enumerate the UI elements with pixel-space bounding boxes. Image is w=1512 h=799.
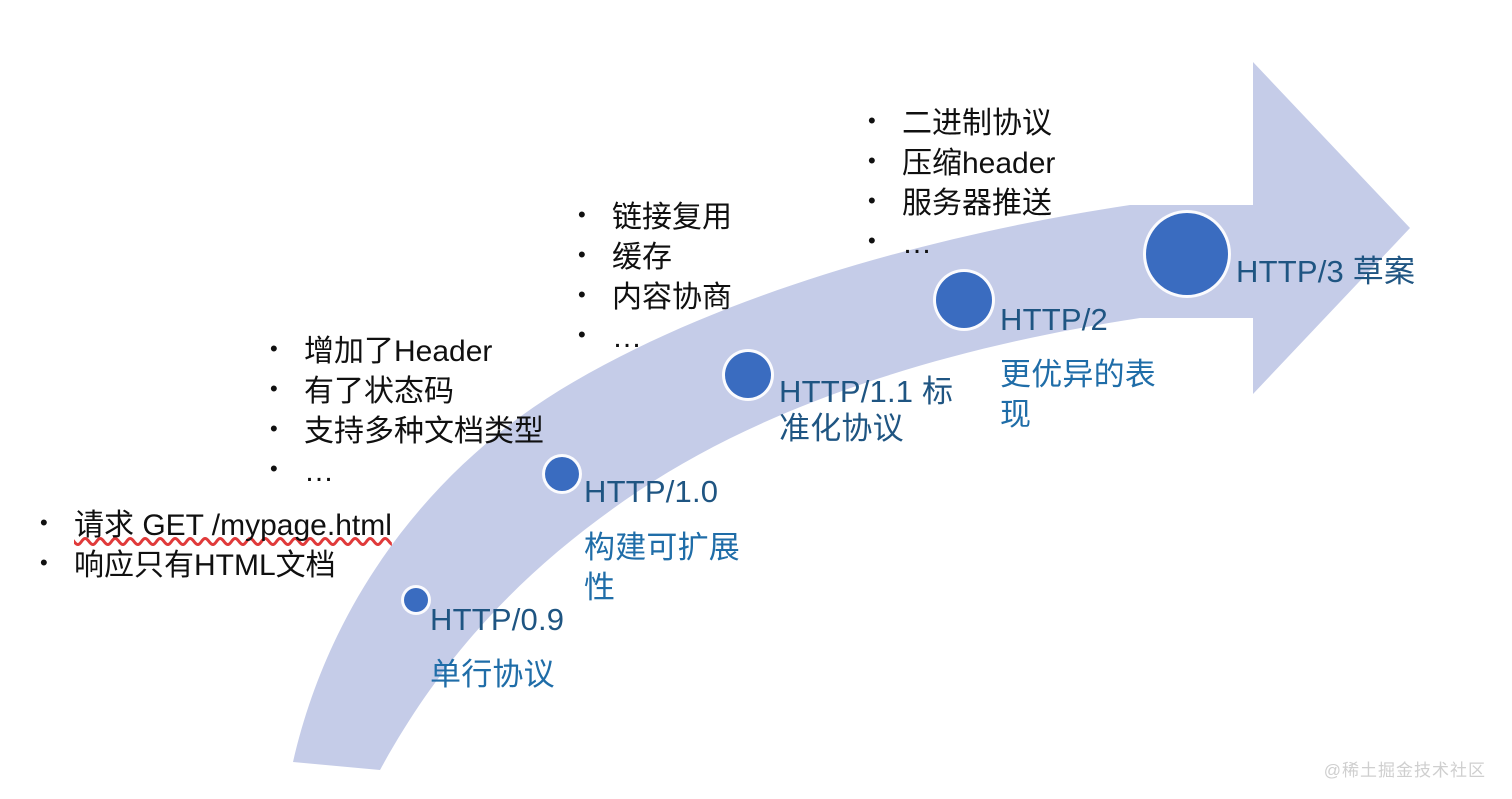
milestone-dot-http10[interactable]	[545, 457, 579, 491]
milestone-desc-http2: 更优异的表 现	[1000, 355, 1180, 434]
bullet-list-http2: • 二进制协议 • 压缩header • 服务器推送 • …	[868, 104, 1055, 264]
list-item: • …	[270, 452, 544, 492]
bullet-icon: •	[270, 338, 304, 360]
list-item: • 请求 GET /mypage.html	[40, 506, 392, 546]
list-item: • 支持多种文档类型	[270, 412, 544, 452]
list-item: • 有了状态码	[270, 372, 544, 412]
bullet-label: 压缩header	[902, 144, 1055, 184]
list-item: • 缓存	[578, 238, 732, 278]
bullet-label: 支持多种文档类型	[304, 412, 544, 452]
list-item: • …	[868, 224, 1055, 264]
bullet-icon: •	[40, 552, 74, 574]
bullet-icon: •	[868, 230, 902, 252]
bullet-list-http11: • 链接复用 • 缓存 • 内容协商 • …	[578, 198, 732, 358]
bullet-label: 二进制协议	[902, 104, 1052, 144]
bullet-label: 增加了Header	[304, 332, 492, 372]
list-item: • 响应只有HTML文档	[40, 546, 392, 586]
list-item: • …	[578, 318, 732, 358]
bullet-label: 缓存	[612, 238, 672, 278]
milestone-dot-http11[interactable]	[725, 352, 771, 398]
bullet-label: 请求 GET /mypage.html	[74, 506, 392, 546]
milestone-label-http10: HTTP/1.0	[584, 474, 718, 511]
bullet-label: …	[612, 318, 644, 358]
milestone-desc-http09: 单行协议	[430, 655, 555, 695]
bullet-icon: •	[868, 110, 902, 132]
milestone-label-http11: HTTP/1.1 标 准化协议	[779, 374, 953, 447]
timeline-arrow	[0, 0, 1512, 799]
bullet-icon: •	[578, 244, 612, 266]
bullet-label: 内容协商	[612, 278, 732, 318]
milestone-desc-http10: 构建可扩展 性	[584, 528, 759, 607]
milestone-dot-http09[interactable]	[404, 588, 428, 612]
list-item: • 链接复用	[578, 198, 732, 238]
bullet-icon: •	[270, 458, 304, 480]
milestone-label-http09: HTTP/0.9	[430, 602, 564, 639]
bullet-icon: •	[578, 324, 612, 346]
milestone-label-http3: HTTP/3 草案	[1236, 254, 1415, 291]
bullet-icon: •	[578, 284, 612, 306]
bullet-icon: •	[270, 418, 304, 440]
watermark: @稀土掘金技术社区	[1324, 756, 1486, 781]
diagram-canvas: HTTP/0.9 单行协议 • 请求 GET /mypage.html • 响应…	[0, 0, 1512, 799]
list-item: • 增加了Header	[270, 332, 544, 372]
bullet-label: 服务器推送	[902, 184, 1052, 224]
bullet-label: 链接复用	[612, 198, 732, 238]
bullet-icon: •	[868, 190, 902, 212]
bullet-label: …	[902, 224, 934, 264]
bullet-icon: •	[868, 150, 902, 172]
bullet-list-http10: • 增加了Header • 有了状态码 • 支持多种文档类型 • …	[270, 332, 544, 492]
bullet-label: 响应只有HTML文档	[74, 546, 336, 586]
milestone-dot-http2[interactable]	[936, 272, 992, 328]
bullet-icon: •	[40, 512, 74, 534]
milestone-label-http2: HTTP/2	[1000, 302, 1108, 339]
list-item: • 压缩header	[868, 144, 1055, 184]
bullet-label: …	[304, 452, 336, 492]
milestone-dot-http3[interactable]	[1146, 213, 1228, 295]
bullet-icon: •	[578, 204, 612, 226]
list-item: • 内容协商	[578, 278, 732, 318]
bullet-label: 有了状态码	[304, 372, 454, 412]
list-item: • 二进制协议	[868, 104, 1055, 144]
list-item: • 服务器推送	[868, 184, 1055, 224]
bullet-icon: •	[270, 378, 304, 400]
bullet-list-http09: • 请求 GET /mypage.html • 响应只有HTML文档	[40, 506, 392, 586]
